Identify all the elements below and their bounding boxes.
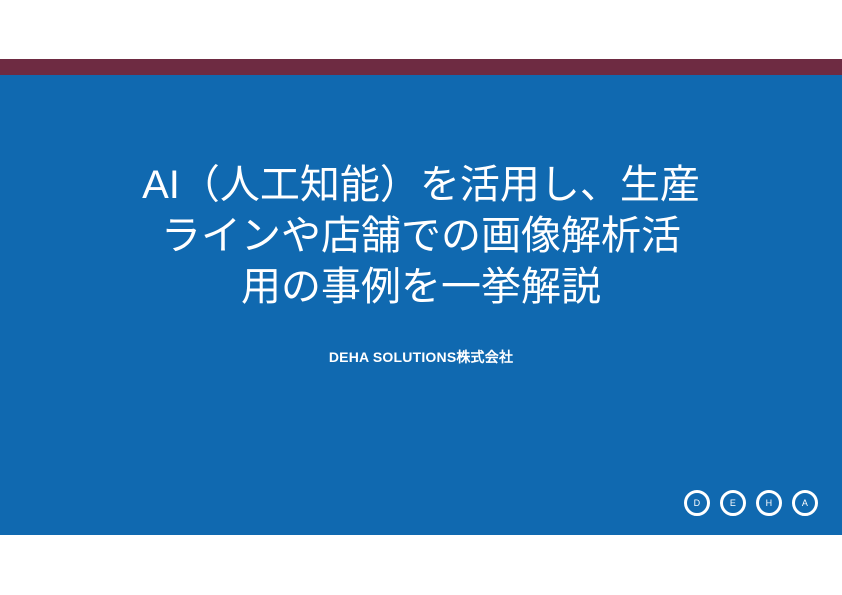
title-line-2: ラインや店舗での画像解析活 xyxy=(0,211,842,262)
title-slide: AI（人工知能）を活用し、生産 ラインや店舗での画像解析活 用の事例を一挙解説 … xyxy=(0,0,842,595)
logo-circle-h: H xyxy=(756,490,782,516)
logo-circle-e: E xyxy=(720,490,746,516)
logo-letter-d: D xyxy=(694,499,701,508)
logo-letter-a: A xyxy=(802,499,808,508)
bottom-white-band xyxy=(0,535,842,595)
top-white-band xyxy=(0,0,842,59)
company-subtitle: DEHA SOLUTIONS株式会社 xyxy=(0,347,842,367)
title-line-3: 用の事例を一挙解説 xyxy=(0,262,842,313)
logo-letter-e: E xyxy=(730,499,736,508)
logo-circle-a: A xyxy=(792,490,818,516)
logo-letter-h: H xyxy=(766,499,773,508)
logo-circle-d: D xyxy=(684,490,710,516)
deha-logo: D E H A xyxy=(684,490,818,516)
title-line-1: AI（人工知能）を活用し、生産 xyxy=(0,160,842,211)
page-title: AI（人工知能）を活用し、生産 ラインや店舗での画像解析活 用の事例を一挙解説 xyxy=(0,160,842,313)
accent-stripe xyxy=(0,59,842,75)
